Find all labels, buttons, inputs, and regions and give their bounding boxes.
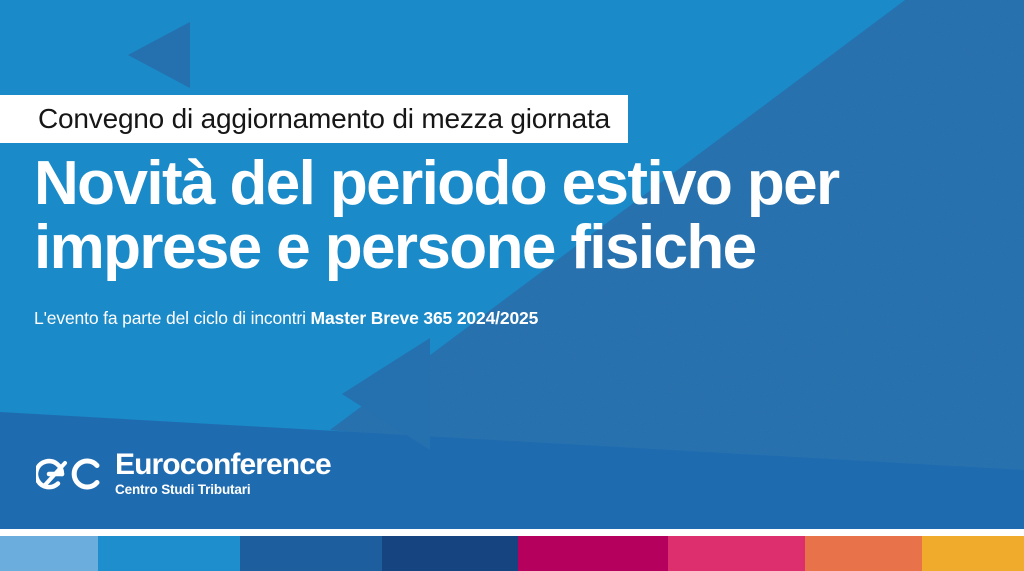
logo-text-block: Euroconference Centro Studi Tributari <box>115 450 331 497</box>
logo-tagline: Centro Studi Tributari <box>115 483 331 498</box>
subtitle-plain-text: L'evento fa parte del ciclo di incontri <box>34 308 311 328</box>
color-bar <box>0 536 1024 571</box>
color-bar-segment-magenta <box>518 536 668 571</box>
subtitle-series-name: Master Breve 365 2024/2025 <box>311 308 539 328</box>
page-title: Novità del periodo estivo per imprese e … <box>34 152 964 280</box>
color-bar-segment-orange <box>805 536 922 571</box>
headline-line-2: imprese e persone fisiche <box>34 216 964 280</box>
event-banner: Convegno di aggiornamento di mezza giorn… <box>0 0 1024 571</box>
headline-line-1: Novità del periodo estivo per <box>34 152 964 216</box>
ec-monogram-icon <box>36 452 104 496</box>
color-bar-segment-yellow <box>922 536 1024 571</box>
logo: Euroconference Centro Studi Tributari <box>36 450 331 497</box>
color-bar-segment-navy-blue <box>382 536 518 571</box>
logo-name: Euroconference <box>115 450 331 481</box>
eyebrow-label: Convegno di aggiornamento di mezza giorn… <box>0 95 628 143</box>
color-bar-segment-bright-blue <box>98 536 240 571</box>
white-gap-strip <box>0 529 1024 536</box>
color-bar-segment-medium-blue <box>240 536 382 571</box>
eyebrow-text: Convegno di aggiornamento di mezza giorn… <box>38 105 610 133</box>
subtitle: L'evento fa parte del ciclo di incontri … <box>34 308 538 329</box>
color-bar-segment-light-blue <box>0 536 98 571</box>
color-bar-segment-pink <box>668 536 805 571</box>
